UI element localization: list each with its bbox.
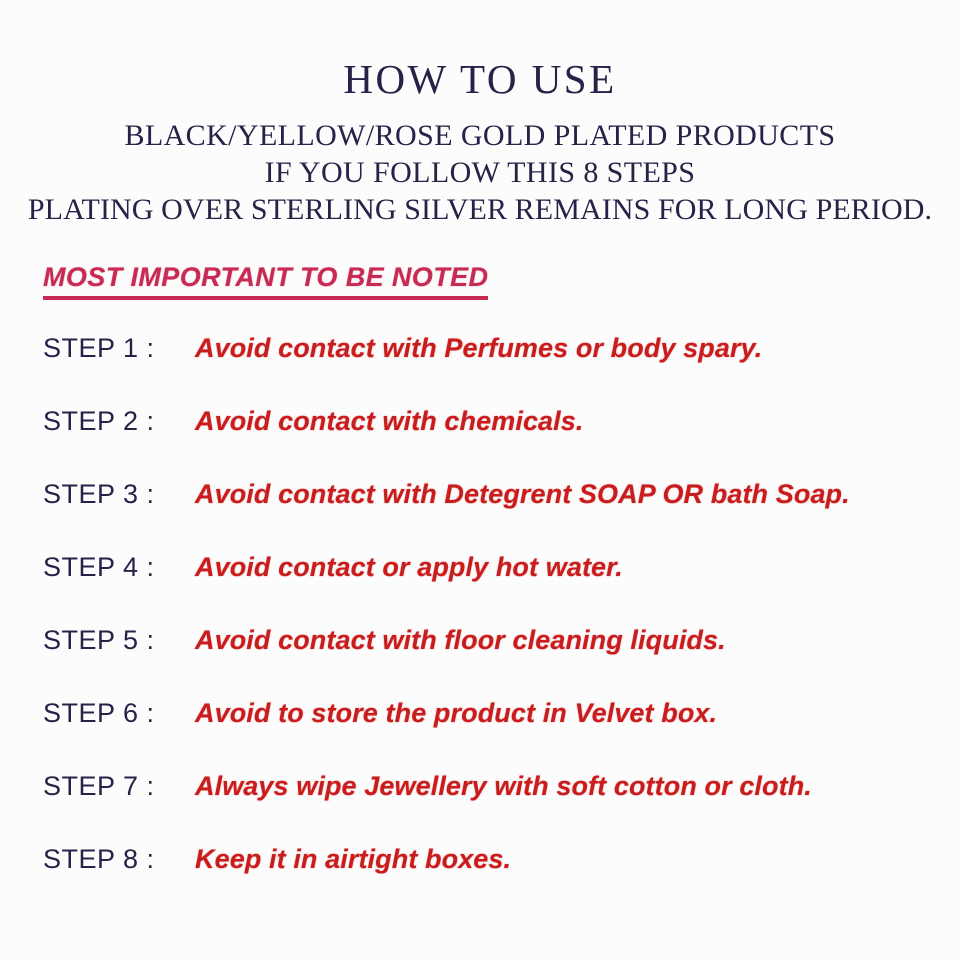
step-text: Avoid to store the product in Velvet box… (195, 698, 717, 729)
important-notice: MOST IMPORTANT TO BE NOTED (43, 262, 488, 300)
step-label: STEP 2 : (43, 406, 195, 437)
step-text: Avoid contact or apply hot water. (195, 552, 623, 583)
list-item: STEP 3 : Avoid contact with Detegrent SO… (43, 479, 953, 552)
list-item: STEP 6 : Avoid to store the product in V… (43, 698, 953, 771)
subtitle-line-2: IF YOU FOLLOW THIS 8 STEPS (0, 154, 960, 191)
step-label: STEP 6 : (43, 698, 195, 729)
step-label: STEP 8 : (43, 844, 195, 875)
list-item: STEP 4 : Avoid contact or apply hot wate… (43, 552, 953, 625)
step-text: Keep it in airtight boxes. (195, 844, 511, 875)
important-notice-label: MOST IMPORTANT TO BE NOTED (43, 262, 488, 300)
step-text: Avoid contact with floor cleaning liquid… (195, 625, 726, 656)
step-label: STEP 5 : (43, 625, 195, 656)
step-text: Avoid contact with Detegrent SOAP OR bat… (195, 479, 850, 510)
subtitle-line-1: BLACK/YELLOW/ROSE GOLD PLATED PRODUCTS (0, 117, 960, 154)
list-item: STEP 8 : Keep it in airtight boxes. (43, 844, 953, 917)
step-label: STEP 7 : (43, 771, 195, 802)
step-label: STEP 1 : (43, 333, 195, 364)
step-text: Always wipe Jewellery with soft cotton o… (195, 771, 812, 802)
step-text: Avoid contact with Perfumes or body spar… (195, 333, 762, 364)
step-label: STEP 4 : (43, 552, 195, 583)
list-item: STEP 2 : Avoid contact with chemicals. (43, 406, 953, 479)
instruction-card: HOW TO USE BLACK/YELLOW/ROSE GOLD PLATED… (0, 0, 960, 960)
subtitle-block: BLACK/YELLOW/ROSE GOLD PLATED PRODUCTS I… (0, 117, 960, 229)
list-item: STEP 1 : Avoid contact with Perfumes or … (43, 333, 953, 406)
list-item: STEP 7 : Always wipe Jewellery with soft… (43, 771, 953, 844)
list-item: STEP 5 : Avoid contact with floor cleani… (43, 625, 953, 698)
step-text: Avoid contact with chemicals. (195, 406, 584, 437)
steps-list: STEP 1 : Avoid contact with Perfumes or … (43, 333, 953, 917)
header-block: HOW TO USE BLACK/YELLOW/ROSE GOLD PLATED… (0, 58, 960, 229)
subtitle-line-3: PLATING OVER STERLING SILVER REMAINS FOR… (0, 191, 960, 228)
step-label: STEP 3 : (43, 479, 195, 510)
page-title: HOW TO USE (0, 58, 960, 101)
